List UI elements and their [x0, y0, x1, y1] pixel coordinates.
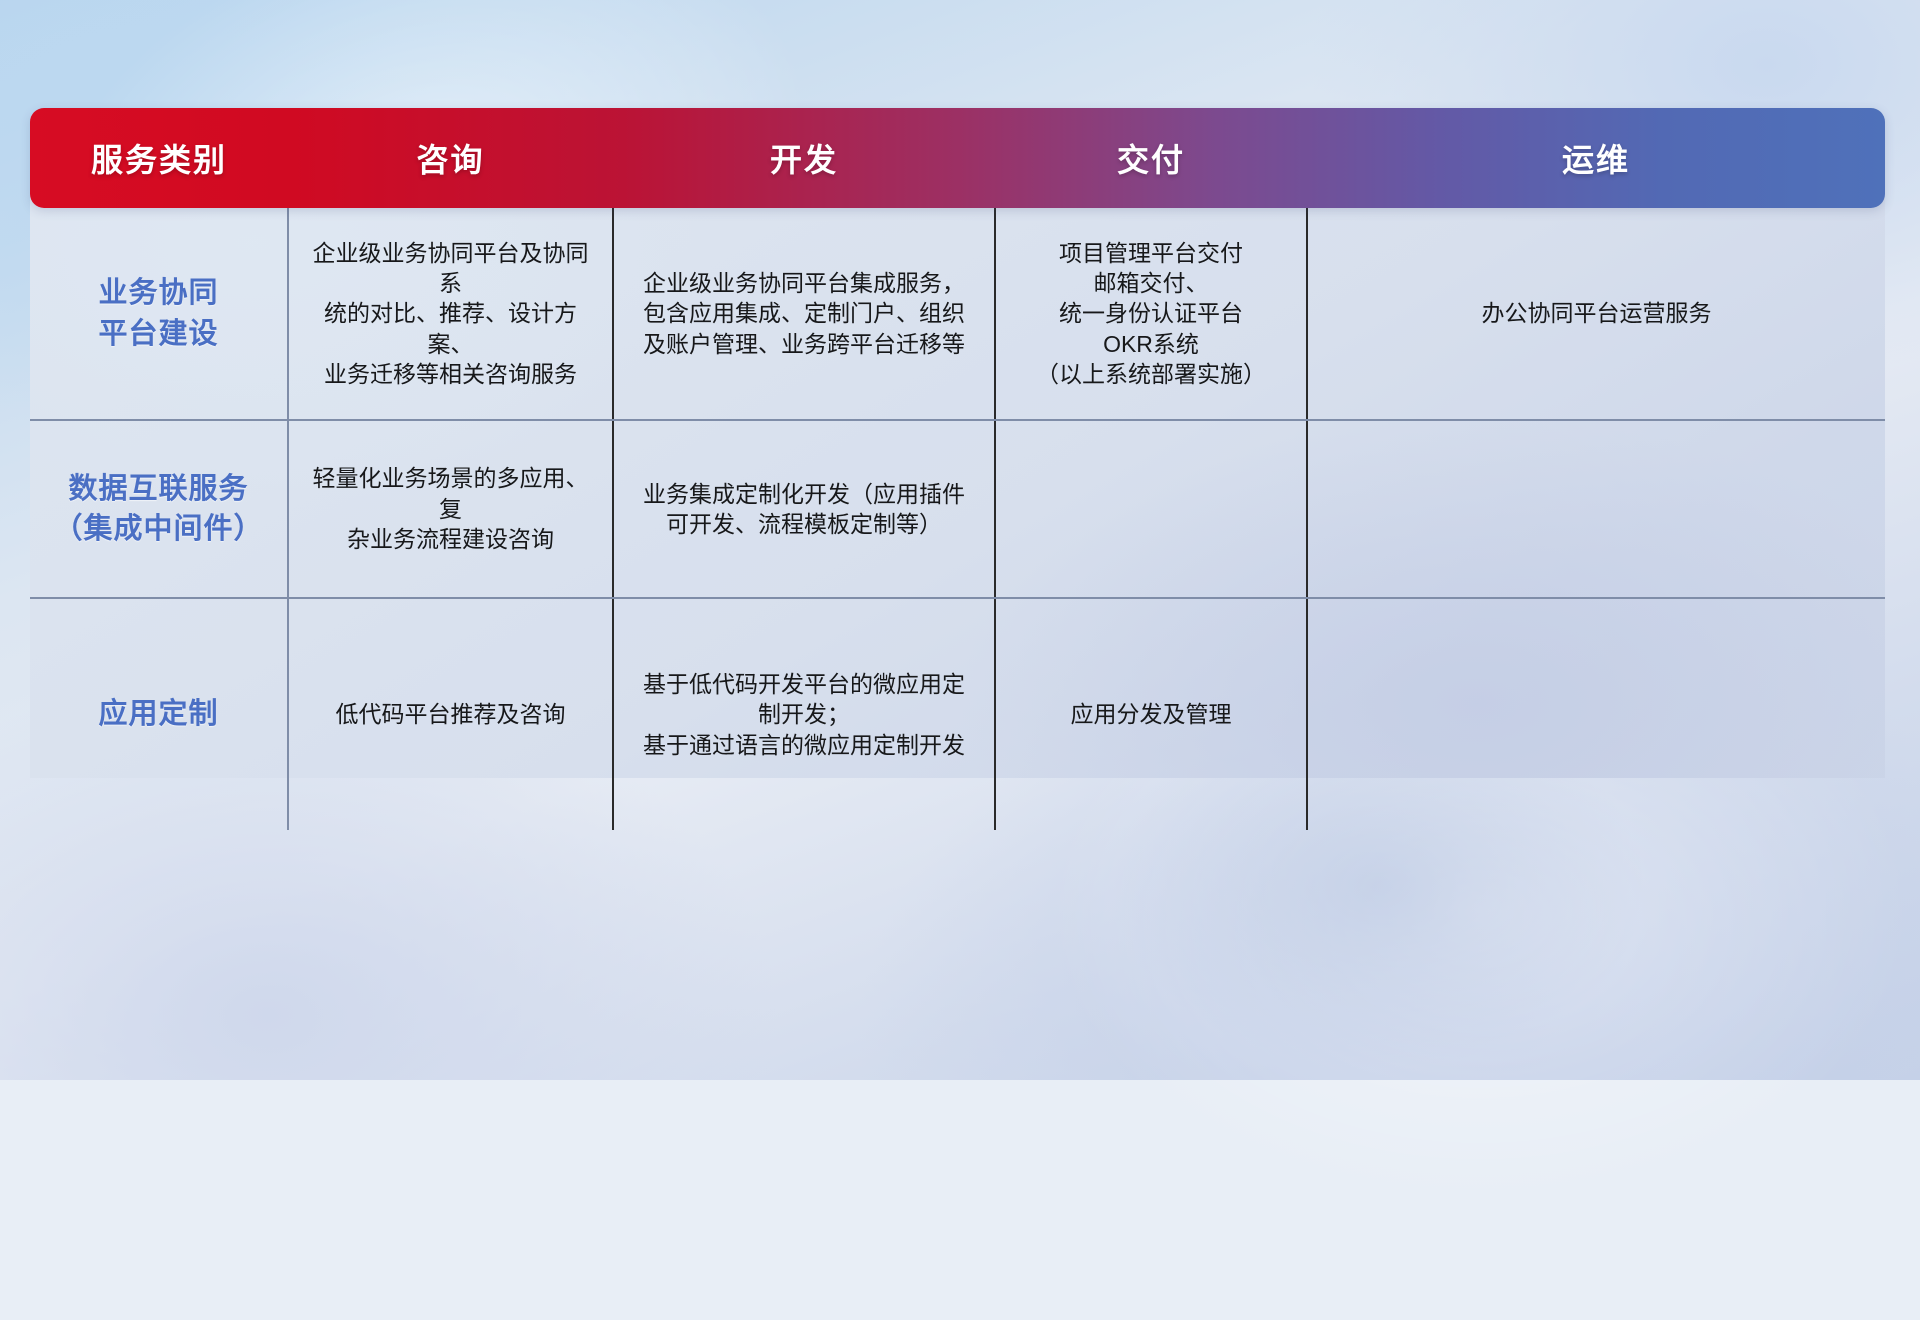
header-row: 服务类别 咨询 开发 交付 运维 — [30, 108, 1885, 208]
row-delivery-cell: 项目管理平台交付 邮箱交付、 统一身份认证平台 OKR系统 （以上系统部署实施） — [995, 208, 1307, 420]
header-label-delivery: 交付 — [1117, 142, 1185, 178]
row-consulting-text: 企业级业务协同平台及协同系 统的对比、推荐、设计方案、 业务迁移等相关咨询服务 — [305, 238, 596, 390]
row-development-cell: 业务集成定制化开发（应用插件 可开发、流程模板定制等） — [613, 420, 995, 598]
service-matrix-table-wrapper: 服务类别 咨询 开发 交付 运维 业务协同 平台建设 — [30, 108, 1885, 778]
header-cell-consulting: 咨询 — [288, 108, 613, 208]
table-row: 应用定制 低代码平台推荐及咨询 基于低代码开发平台的微应用定 制开发； 基于通过… — [30, 598, 1885, 830]
header-label-consulting: 咨询 — [416, 142, 484, 178]
row-category-cell: 业务协同 平台建设 — [30, 208, 288, 420]
row-delivery-cell: 应用分发及管理 — [995, 598, 1307, 830]
row-development-cell: 企业级业务协同平台集成服务， 包含应用集成、定制门户、组织 及账户管理、业务跨平… — [613, 208, 995, 420]
row-development-text: 企业级业务协同平台集成服务， 包含应用集成、定制门户、组织 及账户管理、业务跨平… — [630, 268, 978, 359]
row-delivery-text: 项目管理平台交付 邮箱交付、 统一身份认证平台 OKR系统 （以上系统部署实施） — [1012, 238, 1290, 390]
header-cell-category: 服务类别 — [30, 108, 288, 208]
row-consulting-cell: 低代码平台推荐及咨询 — [288, 598, 613, 830]
service-matrix-table: 服务类别 咨询 开发 交付 运维 业务协同 平台建设 — [30, 108, 1885, 830]
row-operations-cell — [1307, 420, 1885, 598]
row-category-cell: 数据互联服务 （集成中间件） — [30, 420, 288, 598]
row-consulting-cell: 企业级业务协同平台及协同系 统的对比、推荐、设计方案、 业务迁移等相关咨询服务 — [288, 208, 613, 420]
header-cell-operations: 运维 — [1307, 108, 1885, 208]
row-category-label: 应用定制 — [46, 694, 271, 734]
row-consulting-cell: 轻量化业务场景的多应用、复 杂业务流程建设咨询 — [288, 420, 613, 598]
row-operations-text: 办公协同平台运营服务 — [1324, 298, 1869, 328]
row-operations-cell — [1307, 598, 1885, 830]
row-category-label: 数据互联服务 （集成中间件） — [46, 469, 271, 549]
row-consulting-text: 轻量化业务场景的多应用、复 杂业务流程建设咨询 — [305, 463, 596, 554]
row-development-text: 业务集成定制化开发（应用插件 可开发、流程模板定制等） — [630, 479, 978, 540]
header-cell-delivery: 交付 — [995, 108, 1307, 208]
row-consulting-text: 低代码平台推荐及咨询 — [305, 699, 596, 729]
table-header: 服务类别 咨询 开发 交付 运维 — [30, 108, 1885, 208]
table-body: 业务协同 平台建设 企业级业务协同平台及协同系 统的对比、推荐、设计方案、 业务… — [30, 208, 1885, 830]
row-operations-cell: 办公协同平台运营服务 — [1307, 208, 1885, 420]
row-category-cell: 应用定制 — [30, 598, 288, 830]
header-label-category: 服务类别 — [91, 142, 227, 178]
header-label-development: 开发 — [770, 142, 838, 178]
table-row: 业务协同 平台建设 企业级业务协同平台及协同系 统的对比、推荐、设计方案、 业务… — [30, 208, 1885, 420]
row-category-label: 业务协同 平台建设 — [46, 273, 271, 353]
row-delivery-cell — [995, 420, 1307, 598]
row-delivery-text: 应用分发及管理 — [1012, 699, 1290, 729]
header-cell-development: 开发 — [613, 108, 995, 208]
row-development-cell: 基于低代码开发平台的微应用定 制开发； 基于通过语言的微应用定制开发 — [613, 598, 995, 830]
row-development-text: 基于低代码开发平台的微应用定 制开发； 基于通过语言的微应用定制开发 — [630, 669, 978, 760]
header-label-operations: 运维 — [1562, 142, 1630, 178]
table-row: 数据互联服务 （集成中间件） 轻量化业务场景的多应用、复 杂业务流程建设咨询 业… — [30, 420, 1885, 598]
